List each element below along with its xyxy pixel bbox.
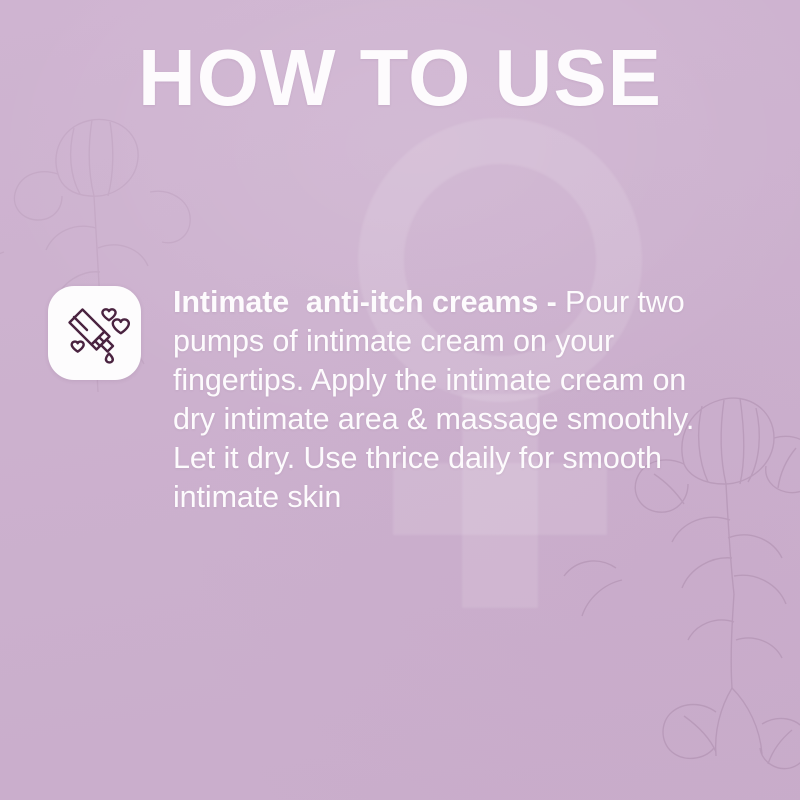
cream-tube-icon: [60, 298, 130, 368]
instruction-row: Intimate anti-itch creams - Pour two pum…: [48, 283, 740, 517]
how-to-use-poster: HOW TO USE: [0, 0, 800, 800]
instruction-lead: Intimate anti-itch creams -: [173, 285, 557, 319]
instruction-text: Intimate anti-itch creams - Pour two pum…: [173, 283, 695, 517]
instruction-body: Pour two pumps of intimate cream on your…: [173, 285, 694, 514]
instruction-icon-tile: [48, 286, 141, 380]
page-title: HOW TO USE: [0, 38, 800, 118]
